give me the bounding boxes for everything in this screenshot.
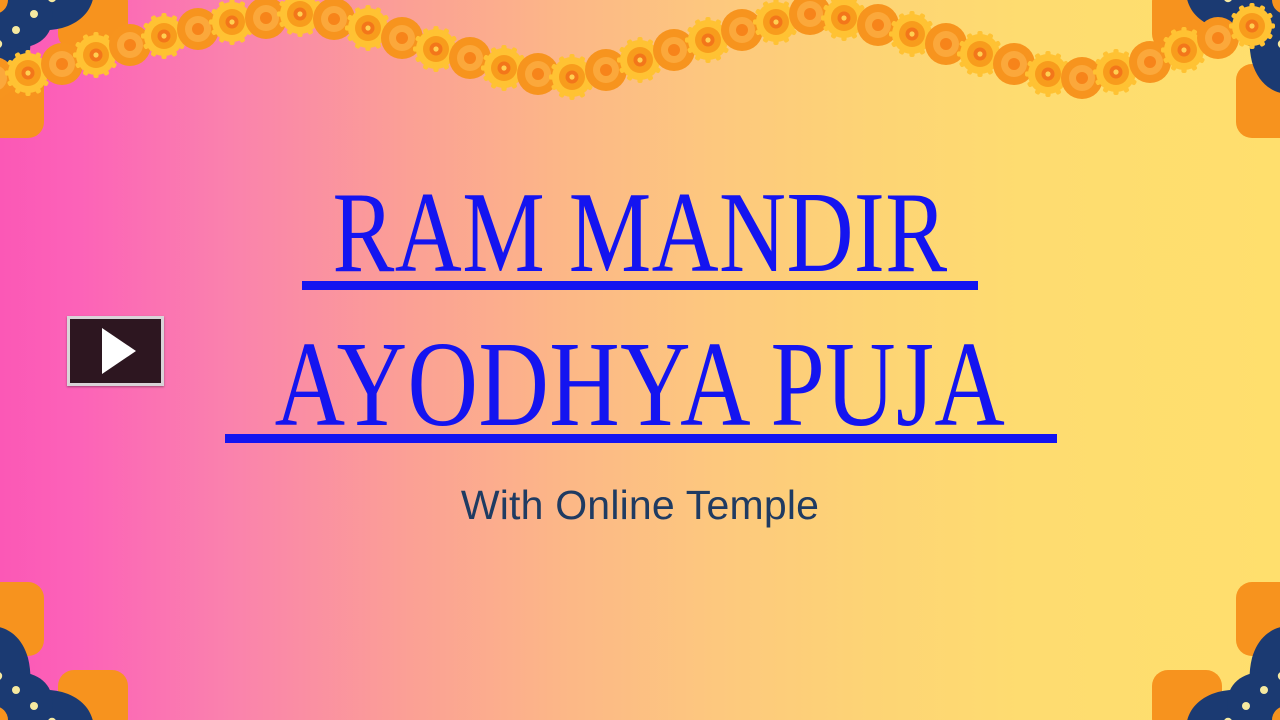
title-line-1: RAM MANDIR [128, 178, 1152, 289]
mandala-corner-bottom-left [0, 508, 212, 720]
presentation-slide: RAM MANDIR AYODHYA PUJA With Online Temp… [0, 0, 1280, 720]
mandala-corner-bottom-right [1068, 508, 1280, 720]
slide-subtitle: With Online Temple [0, 482, 1280, 529]
garland-flowers [0, 0, 1275, 100]
slide-title-block: RAM MANDIR AYODHYA PUJA [0, 178, 1280, 443]
marigold-garland [0, 0, 1280, 115]
title-line-2: AYODHYA PUJA [128, 326, 1152, 443]
